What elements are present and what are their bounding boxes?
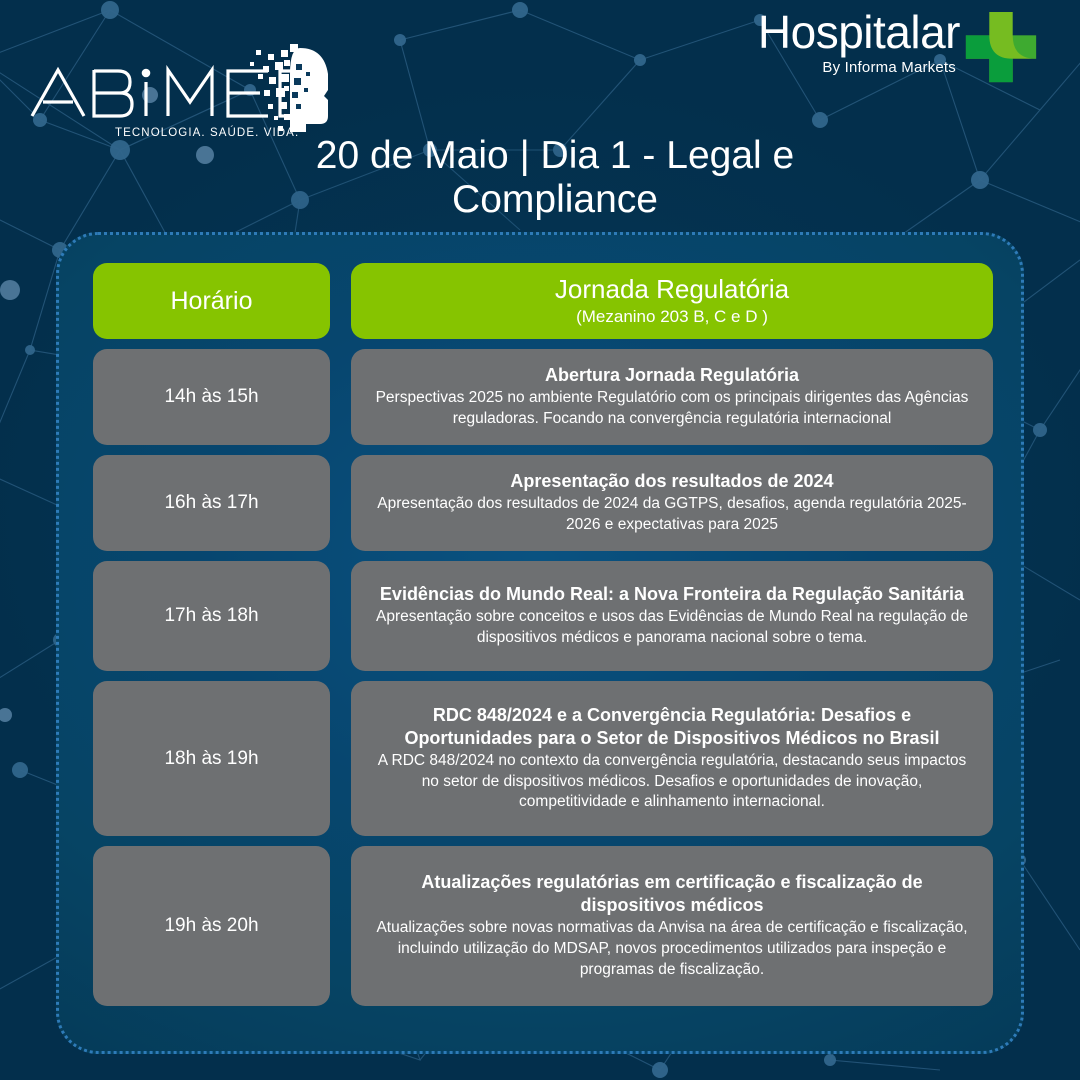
session-time: 19h às 20h bbox=[93, 846, 330, 1006]
session-title: Abertura Jornada Regulatória bbox=[545, 364, 799, 387]
session-details: Evidências do Mundo Real: a Nova Frontei… bbox=[351, 561, 993, 671]
session-title: RDC 848/2024 e a Convergência Regulatóri… bbox=[367, 704, 977, 750]
page-title: 20 de Maio | Dia 1 - Legal e Compliance bbox=[255, 134, 855, 223]
track-location: (Mezanino 203 B, C e D ) bbox=[576, 307, 768, 327]
session-time: 14h às 15h bbox=[93, 349, 330, 445]
session-description: Atualizações sobre novas normativas da A… bbox=[367, 918, 977, 980]
session-time: 18h às 19h bbox=[93, 681, 330, 836]
schedule-table: Horário Jornada Regulatória (Mezanino 20… bbox=[93, 263, 993, 1006]
table-row: 17h às 18h Evidências do Mundo Real: a N… bbox=[93, 561, 993, 671]
session-description: Perspectivas 2025 no ambiente Regulatóri… bbox=[367, 388, 977, 430]
session-details: Abertura Jornada Regulatória Perspectiva… bbox=[351, 349, 993, 445]
schedule-panel: Horário Jornada Regulatória (Mezanino 20… bbox=[56, 232, 1024, 1054]
table-row: 16h às 17h Apresentação dos resultados d… bbox=[93, 455, 993, 551]
hospitalar-logo: Hospitalar By Informa Markets bbox=[748, 8, 1028, 76]
session-title: Apresentação dos resultados de 2024 bbox=[510, 470, 833, 493]
column-header-track: Jornada Regulatória (Mezanino 203 B, C e… bbox=[351, 263, 993, 339]
table-header-row: Horário Jornada Regulatória (Mezanino 20… bbox=[93, 263, 993, 339]
page-header: TECNOLOGIA. SAÚDE. VIDA. bbox=[0, 0, 1080, 232]
session-details: RDC 848/2024 e a Convergência Regulatóri… bbox=[351, 681, 993, 836]
session-time: 16h às 17h bbox=[93, 455, 330, 551]
hospitalar-cross-icon bbox=[962, 10, 1040, 88]
session-details: Apresentação dos resultados de 2024 Apre… bbox=[351, 455, 993, 551]
table-row: 18h às 19h RDC 848/2024 e a Convergência… bbox=[93, 681, 993, 836]
session-title: Atualizações regulatórias em certificaçã… bbox=[367, 871, 977, 917]
session-title: Evidências do Mundo Real: a Nova Frontei… bbox=[380, 583, 964, 606]
session-description: Apresentação sobre conceitos e usos das … bbox=[367, 607, 977, 649]
abimed-logo: TECNOLOGIA. SAÚDE. VIDA. bbox=[28, 44, 328, 142]
session-description: Apresentação dos resultados de 2024 da G… bbox=[367, 494, 977, 536]
session-details: Atualizações regulatórias em certificaçã… bbox=[351, 846, 993, 1006]
session-description: A RDC 848/2024 no contexto da convergênc… bbox=[367, 751, 977, 813]
session-time: 17h às 18h bbox=[93, 561, 330, 671]
table-row: 19h às 20h Atualizações regulatórias em … bbox=[93, 846, 993, 1006]
track-title: Jornada Regulatória bbox=[555, 275, 789, 305]
column-header-time: Horário bbox=[93, 263, 330, 339]
table-row: 14h às 15h Abertura Jornada Regulatória … bbox=[93, 349, 993, 445]
